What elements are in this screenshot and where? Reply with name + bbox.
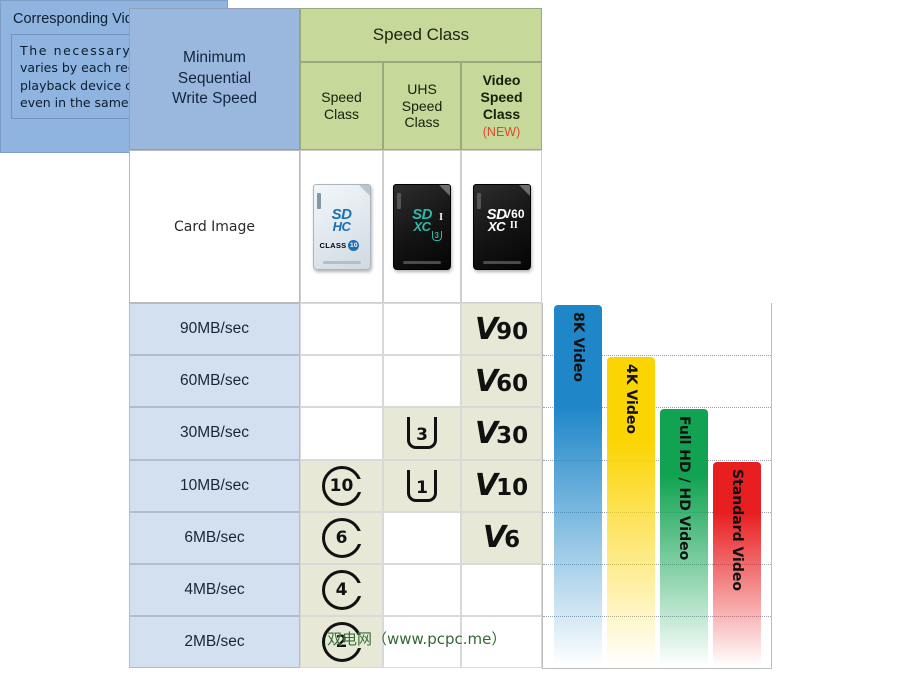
- v-mark: V: [475, 416, 496, 451]
- v-mark: V: [483, 520, 504, 555]
- uhs-speed-class-u3-icon: 3: [407, 417, 437, 449]
- v-number: 60: [496, 371, 528, 397]
- card-cell-sdhc: SD HC CLASS 10: [300, 150, 383, 303]
- cell-uhs-speed-class: [383, 564, 461, 616]
- card-notch-icon: [519, 185, 530, 196]
- cell-uhs-speed-class: 3: [383, 407, 461, 459]
- card-lock-switch-icon: [477, 193, 481, 209]
- v-mark: V: [475, 364, 496, 399]
- cell-speed-class: 10: [300, 460, 383, 512]
- v-mark: V: [475, 468, 496, 503]
- uhs-bus-roman-numeral: II: [503, 220, 524, 231]
- video-speed-class-v30-icon: V30: [475, 416, 528, 451]
- bar-8k-video: 8K Video: [554, 305, 602, 666]
- sd-logo-suffix: HC: [314, 221, 370, 233]
- class-label: CLASS: [320, 241, 347, 250]
- v-number: 6: [504, 527, 520, 553]
- uhs-bus-roman-numeral: I: [439, 212, 443, 223]
- v-mark: V: [475, 312, 496, 347]
- uhs-line-3: Class: [404, 114, 439, 131]
- card-contact-strip: [483, 261, 521, 264]
- speed-row-label: 90MB/sec: [129, 303, 300, 355]
- v-number: 90: [496, 319, 528, 345]
- cell-video-speed-class: V60: [461, 355, 542, 407]
- cell-speed-class: [300, 303, 383, 355]
- speed-class-group-header: Speed Class: [300, 8, 542, 62]
- cell-video-speed-class: V10: [461, 460, 542, 512]
- card-contact-strip: [403, 261, 441, 264]
- minimum-write-speed-header: Minimum Sequential Write Speed: [129, 8, 300, 150]
- watermark: 双电网（www.pcpc.me）: [327, 628, 506, 649]
- header-line-1: Minimum: [172, 48, 257, 68]
- speed-row-label: 6MB/sec: [129, 512, 300, 564]
- cell-uhs-speed-class: [383, 355, 461, 407]
- cell-uhs-speed-class: 1: [383, 460, 461, 512]
- video-format-bar-chart: 8K Video4K VideoFull HD / HD VideoStanda…: [542, 303, 772, 669]
- header-line-2: Sequential: [172, 69, 257, 89]
- cell-video-speed-class: V30: [461, 407, 542, 459]
- bar-label: 8K Video: [570, 312, 586, 382]
- video-line-3: Class: [483, 106, 520, 123]
- v60-mark-icon: V60 II: [503, 209, 524, 231]
- card-notch-icon: [439, 185, 450, 196]
- card-lock-switch-icon: [317, 193, 321, 209]
- speed-class-6-icon: 6: [322, 518, 362, 558]
- card-cell-sdxc-u3: SD XC I 3: [383, 150, 461, 303]
- bar-full-hd-hd-video: Full HD / HD Video: [660, 409, 708, 666]
- speed-row-label: 10MB/sec: [129, 460, 300, 512]
- column-header-speed-class: Speed Class: [300, 62, 383, 150]
- video-speed-class-v10-icon: V10: [475, 468, 528, 503]
- column-header-video-speed-class: Video Speed Class (NEW): [461, 62, 542, 150]
- bar-label: 4K Video: [623, 364, 639, 434]
- cell-speed-class: 4: [300, 564, 383, 616]
- speed-row-label: 2MB/sec: [129, 616, 300, 668]
- v-number: 30: [496, 423, 528, 449]
- video-class-mark: V60: [503, 209, 524, 220]
- cell-video-speed-class: V6: [461, 512, 542, 564]
- speed-class-line-2: Class: [324, 106, 359, 123]
- cell-video-speed-class: [461, 564, 542, 616]
- speed-row-label: 60MB/sec: [129, 355, 300, 407]
- speed-class-4-icon: 4: [322, 570, 362, 610]
- speed-row-label: 30MB/sec: [129, 407, 300, 459]
- sdxc-v60-card-image: SD XC V60 II: [473, 184, 531, 270]
- sd-speed-class-chart: Minimum Sequential Write Speed Speed Cla…: [0, 0, 900, 675]
- class-number: 10: [348, 240, 359, 251]
- speed-row-label: 4MB/sec: [129, 564, 300, 616]
- cell-speed-class: 6: [300, 512, 383, 564]
- bar-standard-video: Standard Video: [713, 462, 761, 666]
- u3-badge-icon: 3: [432, 231, 442, 241]
- cell-speed-class: [300, 355, 383, 407]
- bar-label: Standard Video: [729, 469, 745, 591]
- column-header-uhs-speed-class: UHS Speed Class: [383, 62, 461, 150]
- speed-class-10-icon: 10: [322, 466, 362, 506]
- video-speed-class-v90-icon: V90: [475, 312, 528, 347]
- uhs-speed-class-u1-icon: 1: [407, 470, 437, 502]
- cell-speed-class: [300, 407, 383, 459]
- new-badge: (NEW): [483, 125, 521, 140]
- video-line-1: Video: [483, 72, 521, 89]
- uhs-line-1: UHS: [407, 81, 437, 98]
- speed-class-line-1: Speed: [321, 89, 361, 106]
- uhs-line-2: Speed: [402, 98, 442, 115]
- class-10-badge: CLASS 10: [320, 240, 360, 251]
- cell-video-speed-class: V90: [461, 303, 542, 355]
- sd-logo-icon: SD HC: [314, 209, 370, 233]
- video-speed-class-v6-icon: V6: [483, 520, 520, 555]
- card-contact-strip: [323, 261, 361, 264]
- video-line-2: Speed: [480, 89, 522, 106]
- card-cell-sdxc-v60: SD XC V60 II: [461, 150, 542, 303]
- sdhc-class10-card-image: SD HC CLASS 10: [313, 184, 371, 270]
- v-number: 10: [496, 475, 528, 501]
- bar-label: Full HD / HD Video: [676, 416, 692, 560]
- card-image-label: Card Image: [129, 150, 300, 303]
- video-speed-class-v60-icon: V60: [475, 364, 528, 399]
- bar-4k-video: 4K Video: [607, 357, 655, 666]
- cell-uhs-speed-class: [383, 303, 461, 355]
- cell-uhs-speed-class: [383, 512, 461, 564]
- sdxc-u3-card-image: SD XC I 3: [393, 184, 451, 270]
- header-line-3: Write Speed: [172, 89, 257, 109]
- card-lock-switch-icon: [397, 193, 401, 209]
- card-notch-icon: [359, 185, 370, 196]
